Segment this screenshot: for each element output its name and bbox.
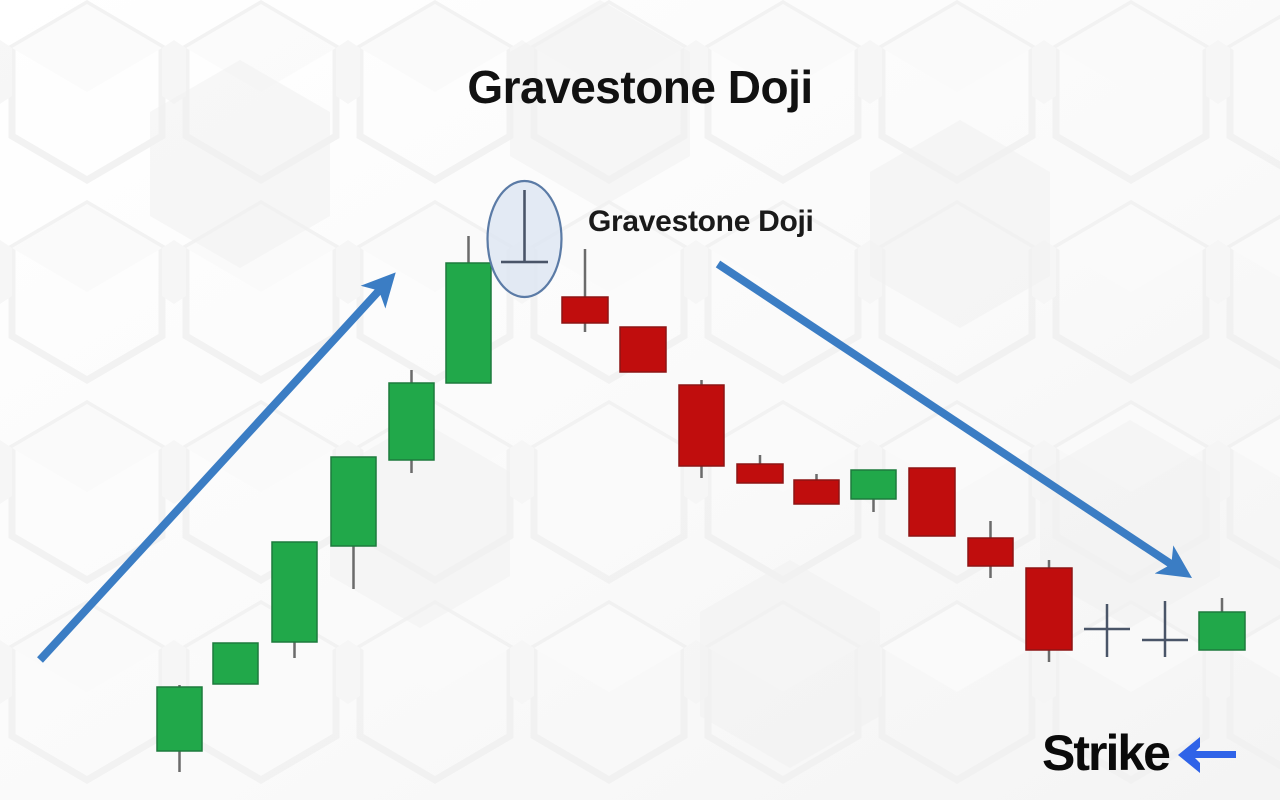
downtrend-arrow (718, 264, 1180, 570)
svg-text:Strike: Strike (1042, 725, 1170, 781)
annotation-overlay (0, 0, 1280, 800)
brand-logo[interactable]: Strike (1042, 726, 1242, 782)
annotation-label: Gravestone Doji (588, 205, 814, 239)
uptrend-arrow (40, 283, 386, 660)
chart-canvas: Gravestone Doji Gravestone Doji Strike (0, 0, 1280, 800)
strike-logo-mark: Strike (1042, 725, 1242, 783)
